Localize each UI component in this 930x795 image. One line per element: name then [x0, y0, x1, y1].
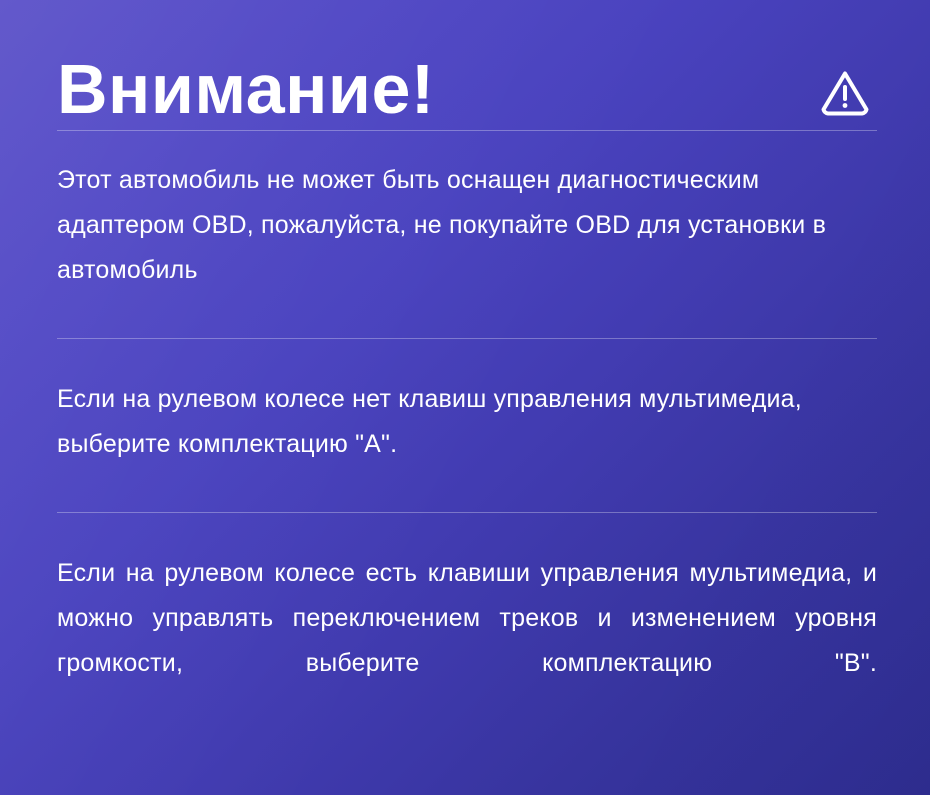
- notice-trim-option-b: Если на рулевом колесе есть клавиши упра…: [57, 513, 877, 731]
- warning-notice-card: Внимание! Этот автомобиль не может быть …: [0, 0, 930, 795]
- page-title: Внимание!: [57, 52, 435, 126]
- card-content: Внимание! Этот автомобиль не может быть …: [0, 0, 930, 731]
- card-header: Внимание!: [57, 0, 877, 96]
- notice-obd-adapter-warning: Этот автомобиль не может быть оснащен ди…: [57, 131, 877, 293]
- notice-trim-option-a: Если на рулевом колесе нет клавиш управл…: [57, 339, 877, 467]
- warning-triangle-icon: [816, 64, 874, 122]
